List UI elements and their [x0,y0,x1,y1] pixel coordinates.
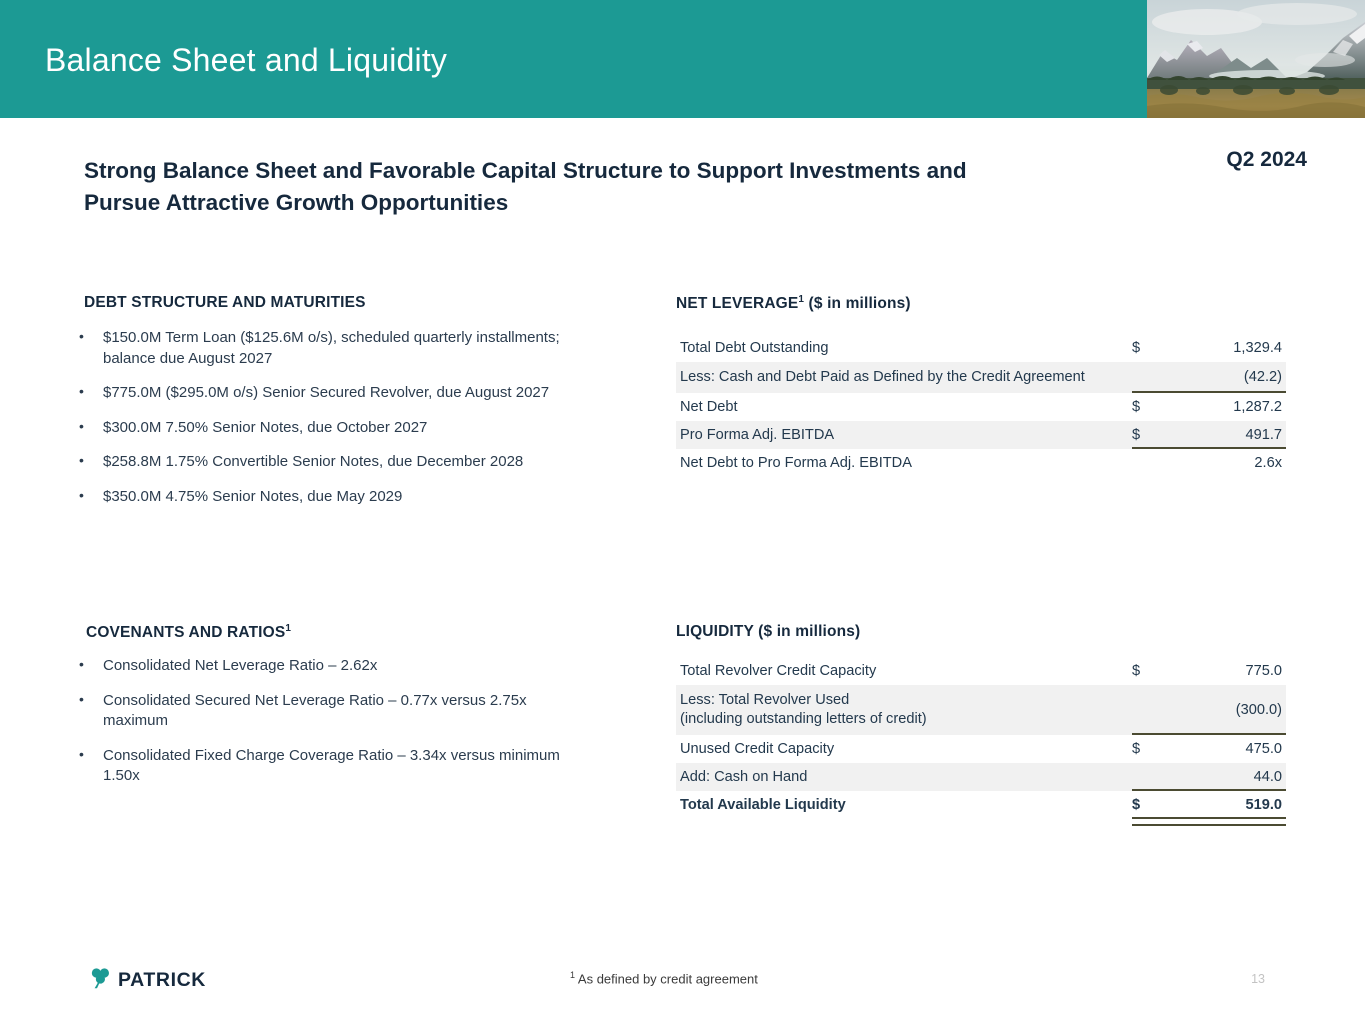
row-value: 1,329.4 [1174,334,1282,362]
row-currency-symbol [1132,457,1174,469]
covenants-heading-text: COVENANTS AND RATIOS [86,624,285,641]
row-currency-symbol: $ [1132,421,1174,449]
table-row: Less: Total Revolver Used (including out… [676,685,1286,735]
list-item: $258.8M 1.75% Convertible Senior Notes, … [72,452,612,473]
net-leverage-heading-suffix: ($ in millions) [804,295,911,312]
covenants-heading: COVENANTS AND RATIOS1 [86,623,291,642]
debt-structure-heading: DEBT STRUCTURE AND MATURITIES [84,294,366,312]
row-label: Total Available Liquidity [680,791,1132,819]
row-currency-symbol: $ [1132,334,1174,362]
row-label: Less: Cash and Debt Paid as Defined by t… [680,362,1132,393]
table-row: Total Debt Outstanding $ 1,329.4 [676,334,1286,362]
list-item: Consolidated Fixed Charge Coverage Ratio… [72,746,592,787]
debt-structure-list: $150.0M Term Loan ($125.6M o/s), schedul… [72,328,612,521]
table-row: Unused Credit Capacity $ 475.0 [676,735,1286,763]
list-item: Consolidated Secured Net Leverage Ratio … [72,691,592,732]
row-label: Net Debt to Pro Forma Adj. EBITDA [680,449,1132,477]
row-value: 2.6x [1174,449,1282,477]
row-label: Net Debt [680,393,1132,421]
row-label-secondary: (including outstanding letters of credit… [680,711,927,727]
row-label: Add: Cash on Hand [680,763,1132,791]
row-label: Total Debt Outstanding [680,334,1132,362]
row-label: Unused Credit Capacity [680,735,1132,763]
row-currency-symbol [1132,704,1174,716]
row-value: 519.0 [1174,791,1282,819]
footnote: 1 As defined by credit agreement [570,970,758,986]
row-value: 775.0 [1174,657,1282,685]
row-value: 44.0 [1174,763,1282,791]
row-currency-symbol: $ [1132,393,1174,421]
list-item: $150.0M Term Loan ($125.6M o/s), schedul… [72,328,612,369]
row-label: Total Revolver Credit Capacity [680,657,1132,685]
patrick-logo: PATRICK [90,966,206,994]
covenants-list: Consolidated Net Leverage Ratio – 2.62x … [72,656,592,801]
table-row: Net Debt to Pro Forma Adj. EBITDA 2.6x [676,449,1286,477]
logo-text: PATRICK [118,969,206,992]
row-label: Pro Forma Adj. EBITDA [680,421,1132,449]
net-leverage-heading-text: NET LEVERAGE [676,295,798,312]
footnote-text: As defined by credit agreement [575,971,758,986]
table-row: Total Revolver Credit Capacity $ 775.0 [676,657,1286,685]
list-item: Consolidated Net Leverage Ratio – 2.62x [72,656,592,677]
row-value: 491.7 [1174,421,1282,449]
shamrock-icon [90,966,111,994]
table-row: Pro Forma Adj. EBITDA $ 491.7 [676,421,1286,449]
slide-subtitle: Strong Balance Sheet and Favorable Capit… [84,155,1044,219]
table-row: Net Debt $ 1,287.2 [676,393,1286,421]
row-value: (300.0) [1174,696,1282,724]
table-row: Add: Cash on Hand 44.0 [676,763,1286,791]
row-currency-symbol [1132,371,1174,383]
row-value: (42.2) [1174,363,1282,391]
table-row-total: Total Available Liquidity $ 519.0 [676,791,1286,819]
net-leverage-table: Total Debt Outstanding $ 1,329.4 Less: C… [676,334,1286,477]
page-title: Balance Sheet and Liquidity [45,42,447,79]
table-row: Less: Cash and Debt Paid as Defined by t… [676,362,1286,393]
list-item: $300.0M 7.50% Senior Notes, due October … [72,418,612,439]
footnote-marker: 1 [285,623,291,634]
row-currency-symbol: $ [1132,735,1174,763]
net-leverage-heading: NET LEVERAGE1 ($ in millions) [676,294,911,313]
row-label: Less: Total Revolver Used [680,692,849,708]
liquidity-heading: LIQUIDITY ($ in millions) [676,623,860,641]
row-currency-symbol: $ [1132,791,1174,819]
row-value: 1,287.2 [1174,393,1282,421]
period-label: Q2 2024 [1226,148,1307,172]
header-landscape-photo [1147,0,1365,118]
page-number: 13 [1251,972,1265,986]
row-value: 475.0 [1174,735,1282,763]
row-currency-symbol: $ [1132,657,1174,685]
list-item: $775.0M ($295.0M o/s) Senior Secured Rev… [72,383,612,404]
liquidity-table: Total Revolver Credit Capacity $ 775.0 L… [676,657,1286,819]
row-currency-symbol [1132,771,1174,783]
list-item: $350.0M 4.75% Senior Notes, due May 2029 [72,487,612,508]
